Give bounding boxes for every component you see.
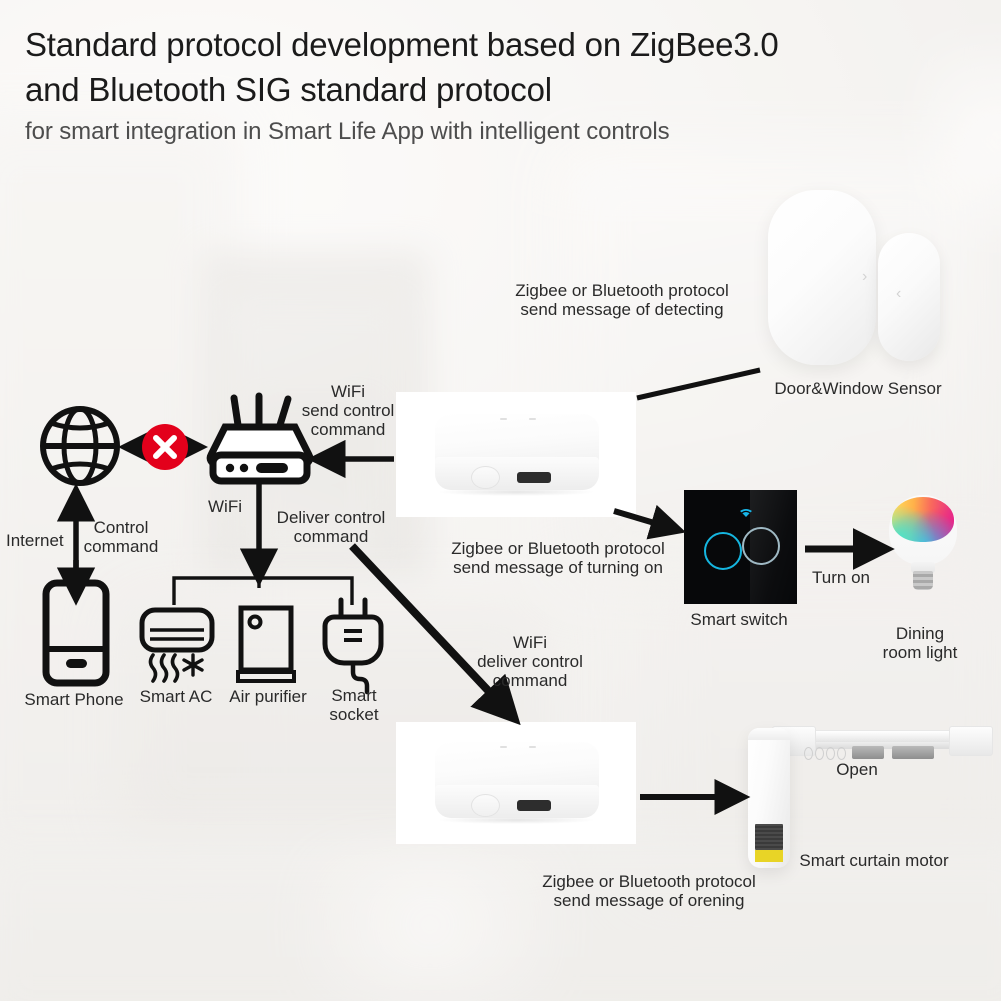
label-deliver-control: Deliver control command	[277, 508, 386, 546]
label-air-purifier: Air purifier	[229, 687, 306, 706]
globe-icon	[43, 409, 117, 483]
label-turn-on: Turn on	[812, 568, 870, 587]
label-smart-phone: Smart Phone	[24, 690, 123, 709]
label-wifi: WiFi	[208, 497, 242, 516]
label-wifi-send-control: WiFi send control command	[302, 382, 395, 439]
label-wifi-deliver-control: WiFi deliver control command	[477, 633, 583, 690]
label-internet: Internet	[6, 531, 64, 550]
smart-phone-icon	[46, 583, 106, 683]
gateway-to-switch-arrow	[614, 511, 678, 530]
label-zigbee-detecting: Zigbee or Bluetooth protocol send messag…	[515, 281, 729, 319]
label-zigbee-turning-on: Zigbee or Bluetooth protocol send messag…	[451, 539, 665, 577]
blocked-x-badge	[142, 424, 188, 470]
infographic-canvas: Standard protocol development based on Z…	[0, 0, 1001, 1001]
label-dining-room-light: Dining room light	[883, 624, 958, 662]
device-bus-bracket	[174, 578, 352, 605]
label-smart-ac: Smart AC	[140, 687, 213, 706]
power-plug-icon	[325, 600, 381, 692]
label-open: Open	[836, 760, 878, 779]
label-smart-socket: Smart socket	[329, 686, 378, 724]
label-control-command: Control command	[84, 518, 159, 556]
gateway-to-door-sensor-line	[637, 370, 760, 398]
label-zigbee-opening: Zigbee or Bluetooth protocol send messag…	[542, 872, 756, 910]
label-door-window-sensor: Door&Window Sensor	[774, 379, 941, 398]
air-purifier-icon	[238, 608, 294, 681]
label-smart-switch: Smart switch	[690, 610, 787, 629]
wifi-router-icon	[210, 396, 310, 481]
air-conditioner-icon	[142, 610, 212, 681]
label-smart-curtain-motor: Smart curtain motor	[799, 851, 948, 870]
